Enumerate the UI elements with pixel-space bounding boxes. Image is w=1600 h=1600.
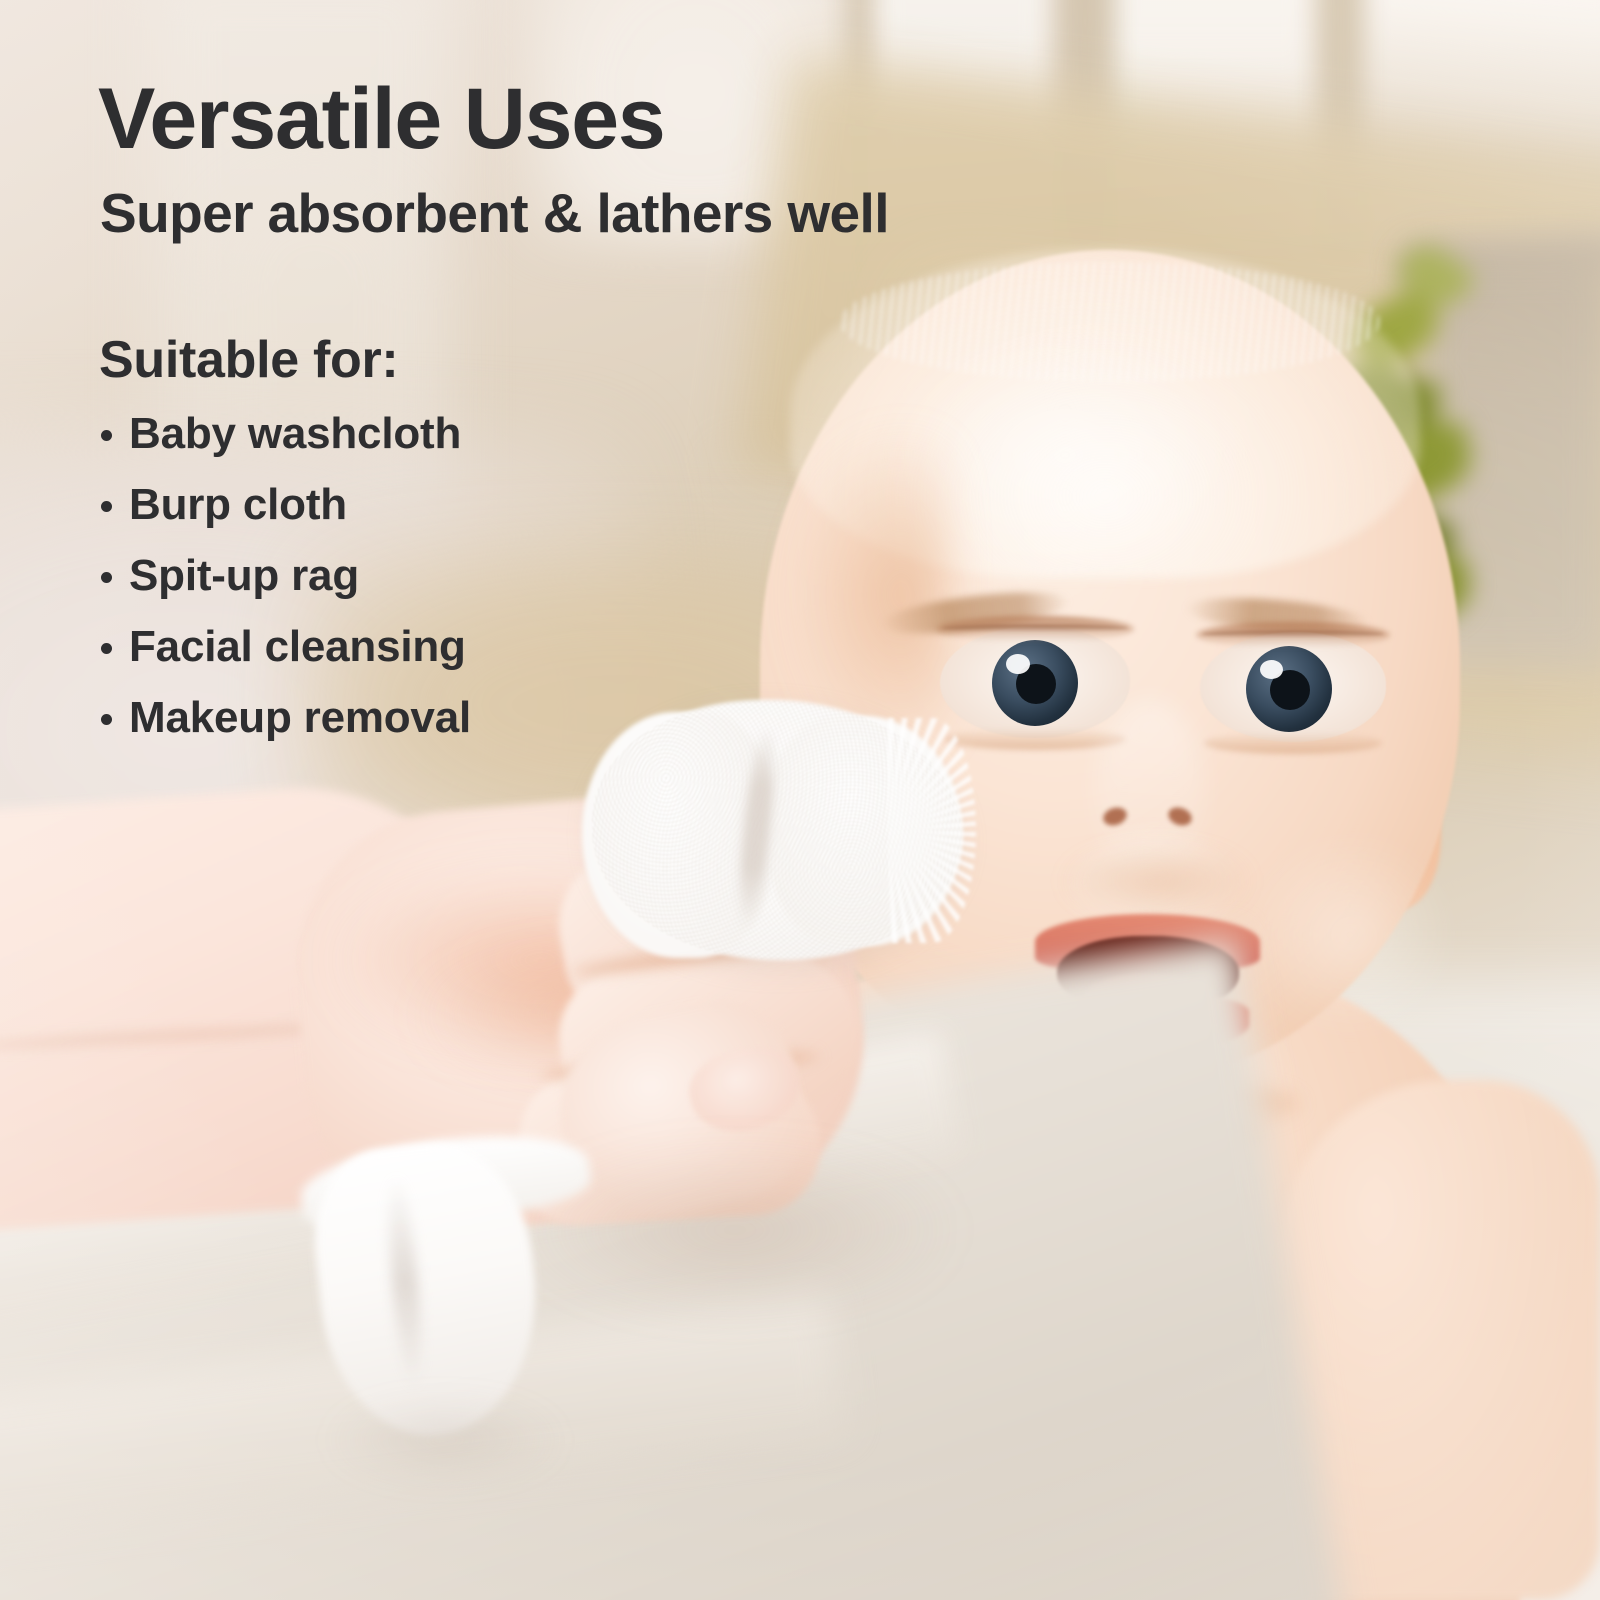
list-item: Baby washcloth bbox=[99, 412, 471, 457]
list-item: Facial cleansing bbox=[99, 625, 471, 670]
list-item-label: Baby washcloth bbox=[129, 409, 461, 458]
uses-list-label: Suitable for: bbox=[99, 334, 398, 386]
bullet-dot-icon bbox=[101, 643, 112, 654]
list-item-label: Burp cloth bbox=[129, 480, 347, 529]
list-item: Makeup removal bbox=[99, 696, 471, 741]
bullet-dot-icon bbox=[101, 714, 112, 725]
page-subtitle: Super absorbent & lathers well bbox=[100, 186, 889, 241]
list-item-label: Facial cleansing bbox=[129, 622, 466, 671]
list-item: Burp cloth bbox=[99, 483, 471, 528]
text-overlay: Versatile Uses Super absorbent & lathers… bbox=[0, 0, 1600, 1600]
page-title: Versatile Uses bbox=[98, 76, 665, 162]
list-item-label: Makeup removal bbox=[129, 693, 471, 742]
product-lifestyle-image: Versatile Uses Super absorbent & lathers… bbox=[0, 0, 1600, 1600]
bullet-dot-icon bbox=[101, 430, 112, 441]
list-item-label: Spit-up rag bbox=[129, 551, 359, 600]
bullet-dot-icon bbox=[101, 572, 112, 583]
bullet-dot-icon bbox=[101, 501, 112, 512]
list-item: Spit-up rag bbox=[99, 554, 471, 599]
uses-list: Baby washclothBurp clothSpit-up ragFacia… bbox=[99, 412, 471, 766]
